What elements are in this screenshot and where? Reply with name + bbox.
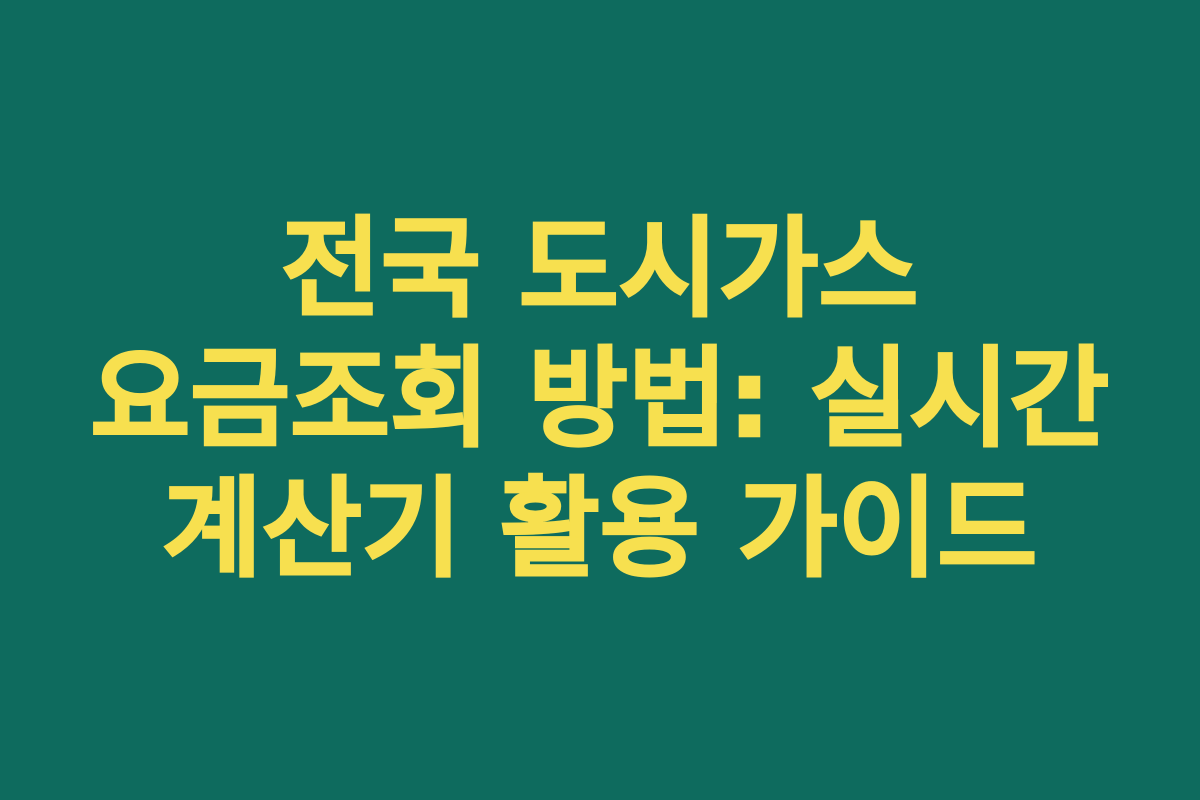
page-title: 전국 도시가스 요금조회 방법: 실시간 계산기 활용 가이드 — [88, 205, 1112, 595]
banner-content-area: 전국 도시가스 요금조회 방법: 실시간 계산기 활용 가이드 — [0, 205, 1200, 595]
banner-card: 전국 도시가스 요금조회 방법: 실시간 계산기 활용 가이드 — [0, 0, 1200, 800]
